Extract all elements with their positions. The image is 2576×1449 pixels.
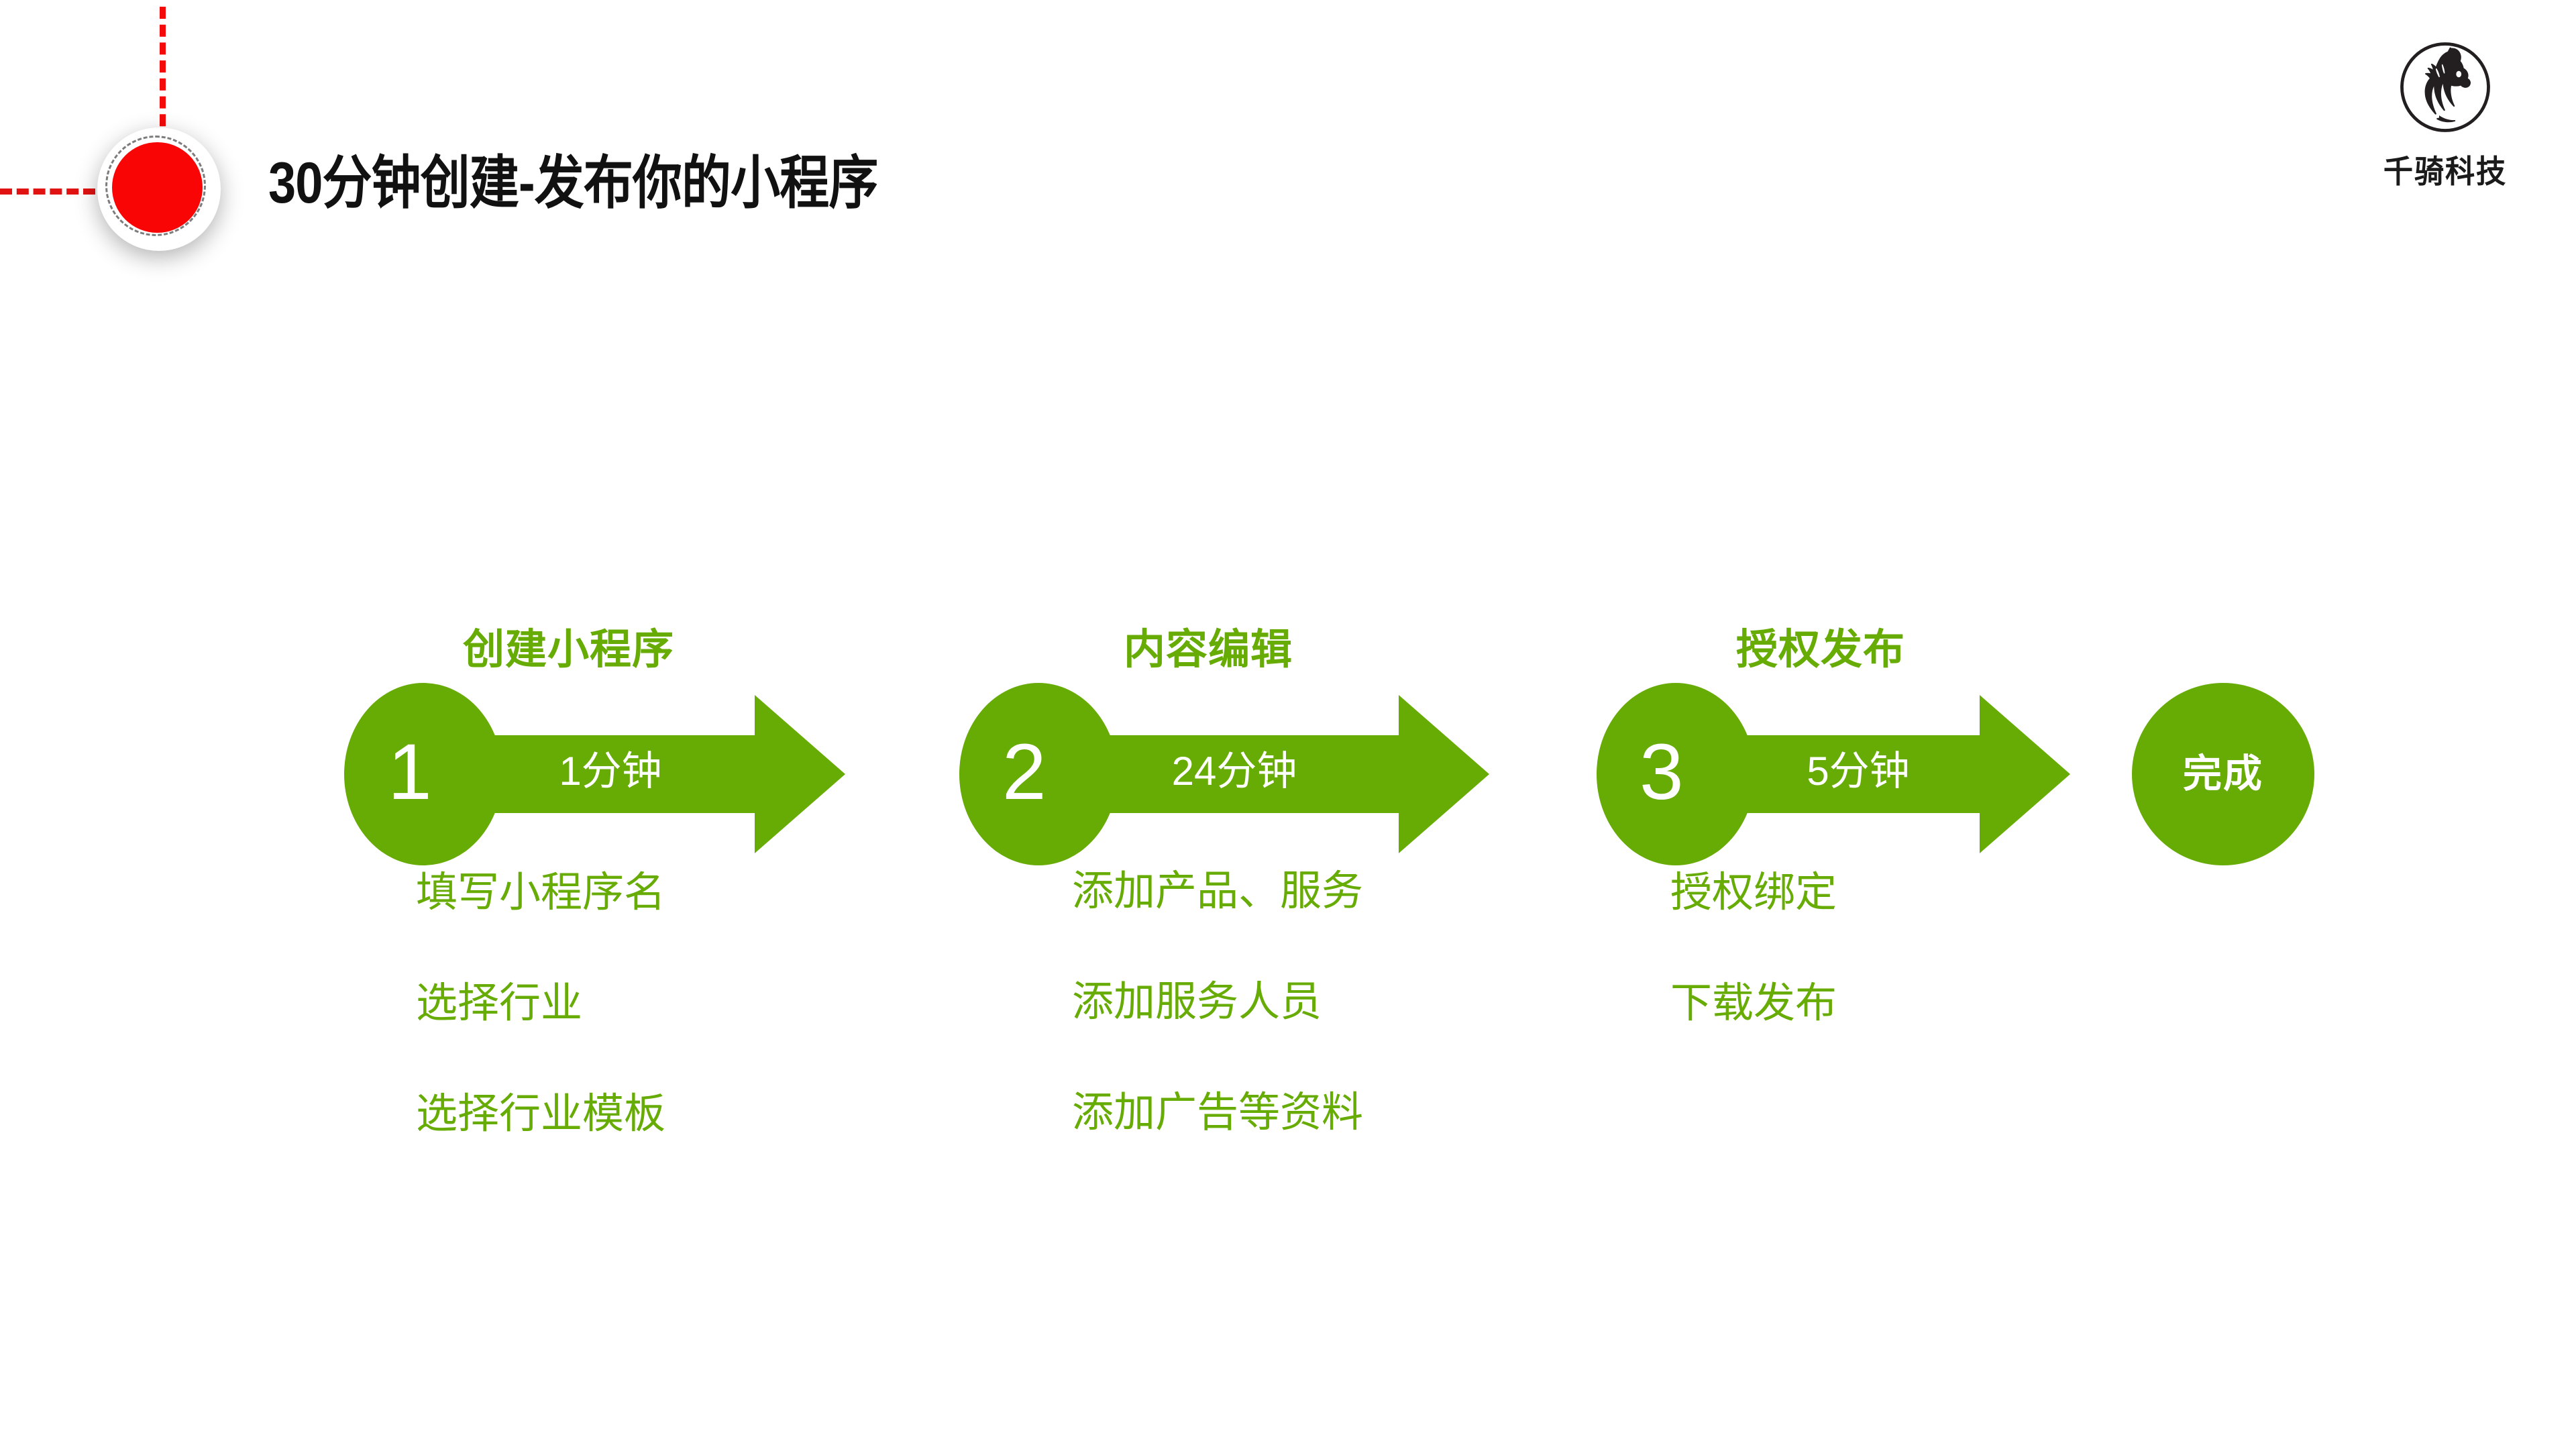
finish-label: 完成 [2183, 755, 2263, 794]
step-2-bullet-0: 添加产品、服务 [1072, 871, 1363, 912]
step-2-bullet-2: 添加广告等资料 [1072, 1092, 1363, 1134]
step-3-header: 授权发布 [1736, 629, 1905, 671]
step-2-bullet-list: 添加产品、服务 添加服务人员 添加广告等资料 [1072, 871, 1363, 1203]
step-2-header: 内容编辑 [1124, 629, 1293, 671]
step-1-bullet-1: 选择行业 [416, 983, 665, 1024]
step-2-duration: 24分钟 [1087, 751, 1382, 792]
step-1-bullet-list: 填写小程序名 选择行业 选择行业模板 [416, 872, 665, 1204]
step-3-bullet-list: 授权绑定 下载发布 [1670, 872, 1837, 1093]
step-1-bullet-0: 填写小程序名 [416, 872, 665, 914]
step-3-duration: 5分钟 [1717, 751, 1999, 792]
step-1-header: 创建小程序 [463, 629, 674, 671]
step-2-number: 2 [1002, 733, 1046, 812]
step-1-duration: 1分钟 [470, 751, 751, 792]
step-2-bullet-1: 添加服务人员 [1072, 981, 1363, 1023]
step-3-number: 3 [1640, 733, 1684, 812]
step-1-bullet-2: 选择行业模板 [416, 1093, 665, 1135]
finish-circle: 完成 [2132, 683, 2314, 865]
process-flow-diagram: 创建小程序 1 1分钟 填写小程序名 选择行业 选择行业模板 内容编辑 2 24… [0, 0, 2576, 1449]
step-3-bullet-1: 下载发布 [1670, 983, 1837, 1024]
step-3-bullet-0: 授权绑定 [1670, 872, 1837, 914]
step-1-number: 1 [388, 733, 432, 812]
